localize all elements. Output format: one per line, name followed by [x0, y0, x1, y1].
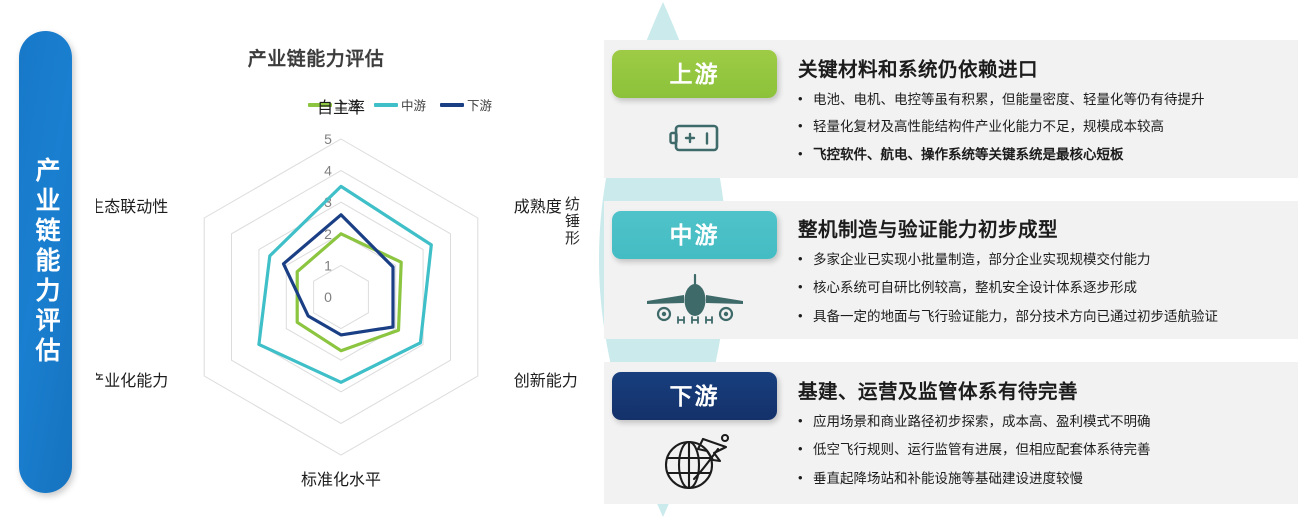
- stage-badge-downstream[interactable]: 下游: [612, 372, 777, 420]
- battery-icon: [612, 102, 777, 174]
- sidebar-item-label: 产业链能力评估: [33, 157, 58, 367]
- list-item: •核心系统可自研比例较高，整机安全设计体系逐步形成: [798, 279, 1288, 296]
- list-item: •垂直起降场站和补能设施等基础建设进度较慢: [798, 470, 1288, 487]
- bullet-text: 飞控软件、航电、操作系统等关键系统是最核心短板: [813, 146, 1124, 163]
- bullet-text: 多家企业已实现小批量制造，部分企业实现规模交付能力: [813, 251, 1151, 268]
- radar-series-group: [259, 186, 431, 382]
- list-item: •飞控软件、航电、操作系统等关键系统是最核心短板: [798, 146, 1288, 163]
- bullet-marker: •: [798, 251, 813, 268]
- chart-title: 产业链能力评估: [96, 44, 536, 71]
- radar-tick-label: 0: [324, 289, 332, 305]
- globe-plane-icon: [612, 424, 777, 496]
- list-item: •多家企业已实现小批量制造，部分企业实现规模交付能力: [798, 251, 1288, 268]
- stage-badge-upstream[interactable]: 上游: [612, 50, 777, 98]
- radar-series-下游: [284, 215, 394, 335]
- bullet-marker: •: [798, 413, 813, 430]
- radar-tick-label: 4: [324, 163, 332, 179]
- bullet-marker: •: [798, 441, 813, 458]
- stage-heading: 关键材料和系统仍依赖进口: [798, 53, 1288, 82]
- radar-series-中游: [259, 186, 431, 382]
- radar-tick-label: 1: [324, 257, 332, 273]
- bullet-marker: •: [798, 118, 813, 135]
- airplane-icon: [612, 263, 777, 335]
- radar-axis-labels: 自主率成熟度创新能力标准化水平产业化能力生态联动性: [96, 99, 578, 489]
- stage-badge-label: 下游: [670, 385, 720, 408]
- stage-card-midstream[interactable]: 中游 整机制造与验证能力初步成型 •多家企业已实现小批量制造，部分企业实现规模交…: [604, 201, 1298, 339]
- stage-body-downstream: 基建、运营及监管体系有待完善 •应用场景和商业路径初步探索，成本高、盈利模式不明…: [798, 362, 1288, 504]
- bullet-marker: •: [798, 470, 813, 487]
- list-item: •应用场景和商业路径初步探索，成本高、盈利模式不明确: [798, 413, 1288, 430]
- radar-axis-label-创新能力: 创新能力: [514, 372, 578, 390]
- spindle-shape-label: 纺锤形: [556, 196, 582, 247]
- bullet-marker: •: [798, 91, 813, 108]
- list-item: •轻量化复材及高性能结构件产业化能力不足，规模成本较高: [798, 118, 1288, 135]
- bullet-marker: •: [798, 308, 813, 325]
- radar-chart-svg: 012345 自主率成熟度创新能力标准化水平产业化能力生态联动性: [96, 82, 606, 502]
- stage-badge-label: 上游: [670, 63, 720, 86]
- stage-badge-label: 中游: [670, 224, 720, 247]
- bullet-text: 电池、电机、电控等虽有积累，但能量密度、轻量化等仍有待提升: [813, 91, 1205, 108]
- stage-body-midstream: 整机制造与验证能力初步成型 •多家企业已实现小批量制造，部分企业实现规模交付能力…: [798, 201, 1288, 339]
- bullet-text: 核心系统可自研比例较高，整机安全设计体系逐步形成: [813, 279, 1137, 296]
- list-item: •电池、电机、电控等虽有积累，但能量密度、轻量化等仍有待提升: [798, 91, 1288, 108]
- bullet-text: 应用场景和商业路径初步探索，成本高、盈利模式不明确: [813, 413, 1151, 430]
- bullet-marker: •: [798, 279, 813, 296]
- radar-tick-labels: 012345: [324, 131, 332, 305]
- radar-axis-label-自主率: 自主率: [317, 99, 365, 117]
- sidebar-vertical-pill: 产业链能力评估: [19, 31, 72, 493]
- radar-axis-label-生态联动性: 生态联动性: [96, 198, 168, 216]
- stage-card-downstream[interactable]: 下游 基建、运营及监管体系有待完善 •应用场景和商业路径初步探索，成本高、盈利模…: [604, 362, 1298, 504]
- stage-heading: 基建、运营及监管体系有待完善: [798, 375, 1288, 404]
- bullet-text: 轻量化复材及高性能结构件产业化能力不足，规模成本较高: [813, 118, 1164, 135]
- radar-axis-label-产业化能力: 产业化能力: [96, 372, 168, 390]
- radar-chart-panel: 产业链能力评估 上游中游下游 012345 自主率成熟度创新能力标准化水平产业化…: [96, 22, 606, 502]
- airplane-icon-svg: [643, 272, 747, 326]
- stage-bullet-list: •应用场景和商业路径初步探索，成本高、盈利模式不明确•低空飞行规则、运行监管有进…: [798, 413, 1288, 487]
- radar-grid-ring: [314, 265, 369, 328]
- stage-body-upstream: 关键材料和系统仍依赖进口 •电池、电机、电控等虽有积累，但能量密度、轻量化等仍有…: [798, 40, 1288, 178]
- stage-bullet-list: •电池、电机、电控等虽有积累，但能量密度、轻量化等仍有待提升•轻量化复材及高性能…: [798, 91, 1288, 163]
- battery-icon-svg: [668, 119, 722, 157]
- stage-card-upstream[interactable]: 上游 关键材料和系统仍依赖进口 •电池、电机、电控等虽有积累，但能量密度、轻量化…: [604, 40, 1298, 178]
- bullet-text: 具备一定的地面与飞行验证能力，部分技术方向已通过初步适航验证: [813, 308, 1218, 325]
- bullet-text: 垂直起降场站和补能设施等基础建设进度较慢: [813, 470, 1083, 487]
- radar-axis-label-标准化水平: 标准化水平: [301, 471, 381, 489]
- stage-bullet-list: •多家企业已实现小批量制造，部分企业实现规模交付能力•核心系统可自研比例较高，整…: [798, 251, 1288, 325]
- radar-axis-label-成熟度: 成熟度: [514, 198, 562, 216]
- bullet-text: 低空飞行规则、运行监管有进展，但相应配套体系待完善: [813, 441, 1151, 458]
- stage-heading: 整机制造与验证能力初步成型: [798, 213, 1288, 242]
- stage-badge-midstream[interactable]: 中游: [612, 211, 777, 259]
- list-item: •具备一定的地面与飞行验证能力，部分技术方向已通过初步适航验证: [798, 308, 1288, 325]
- bullet-marker: •: [798, 146, 813, 163]
- globe-plane-icon-svg: [658, 427, 732, 493]
- list-item: •低空飞行规则、运行监管有进展，但相应配套体系待完善: [798, 441, 1288, 458]
- radar-tick-label: 5: [324, 131, 332, 147]
